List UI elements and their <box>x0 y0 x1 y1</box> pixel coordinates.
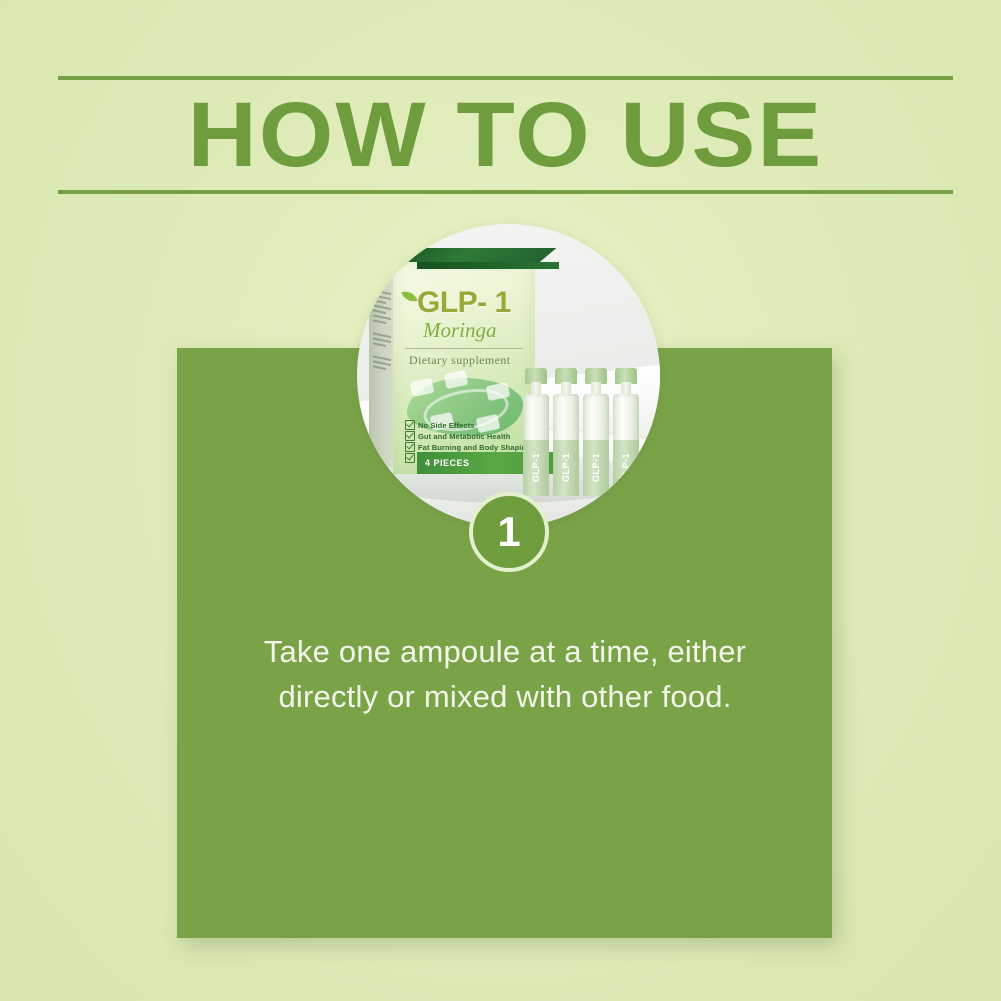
page-title: HOW TO USE <box>40 80 971 190</box>
ampoule: GLP-1 <box>583 368 609 496</box>
product-photo-inner: GLP- 1 Moringa Dietary supplement <box>357 224 660 527</box>
ampoule-body: GLP-1 <box>583 394 609 496</box>
leaf-icon <box>403 290 416 303</box>
side-text-line <box>373 319 386 324</box>
ampoule-label-text: GLP-1 <box>561 453 571 482</box>
ampoule: GLP-1 <box>523 368 549 496</box>
product-photo: GLP- 1 Moringa Dietary supplement <box>357 224 660 527</box>
box-top-strip <box>417 262 559 269</box>
ampoule-label: GLP-1 <box>553 440 579 496</box>
ampoule-label-text: GLP-1 <box>621 453 631 482</box>
check-icon <box>405 420 415 430</box>
box-side-text-lines <box>373 289 391 371</box>
ampoule-label-text: GLP-1 <box>531 453 541 482</box>
step-number-badge: 1 <box>469 492 549 572</box>
benefit-item: No Side Effects <box>405 420 531 430</box>
benefit-item: Gut and Metabolic Health <box>405 431 531 441</box>
ampoule: GLP-1 <box>553 368 579 496</box>
benefit-item: Fat Burning and Body Shaping <box>405 442 531 452</box>
ampoule-group: GLP-1 GLP-1 <box>523 348 641 496</box>
product-brand: GLP- 1 <box>417 288 511 318</box>
side-text-line <box>373 342 386 347</box>
ampoule-label: GLP-1 <box>523 440 549 496</box>
how-to-use-poster: HOW TO USE Take one ampoule at a time, e… <box>0 0 1001 1001</box>
ampoule-body: GLP-1 <box>523 394 549 496</box>
ampoule-label-text: GLP-1 <box>591 453 601 482</box>
product-category: Dietary supplement <box>409 353 511 368</box>
side-text-line <box>373 309 386 314</box>
ampoule-label: GLP-1 <box>613 440 639 496</box>
side-text-line <box>373 365 386 370</box>
benefit-label: No Side Effects <box>418 421 475 430</box>
box-front-face: GLP- 1 Moringa Dietary supplement <box>393 262 535 474</box>
brand-lockup: GLP- 1 <box>403 288 511 318</box>
pieces-count: 4 PIECES <box>425 458 470 468</box>
caption-line-2: directly or mixed with other food. <box>210 675 800 720</box>
step-caption: Take one ampoule at a time, either direc… <box>210 630 800 720</box>
ampoule-label: GLP-1 <box>583 440 609 496</box>
check-icon <box>405 453 415 463</box>
product-box: GLP- 1 Moringa Dietary supplement <box>369 262 535 474</box>
benefit-label: Fat Burning and Body Shaping <box>418 443 531 452</box>
box-divider <box>405 348 523 349</box>
check-icon <box>405 442 415 452</box>
check-icon <box>405 431 415 441</box>
box-side-face <box>369 266 395 468</box>
ampoule-body: GLP-1 <box>553 394 579 496</box>
title-rule-bottom <box>58 190 953 194</box>
ampoule-body: GLP-1 <box>613 394 639 496</box>
caption-line-1: Take one ampoule at a time, either <box>210 630 800 675</box>
ampoule: GLP-1 <box>613 368 639 496</box>
product-sub-brand: Moringa <box>423 320 497 341</box>
side-text-line <box>373 299 386 304</box>
benefit-label: Gut and Metabolic Health <box>418 432 510 441</box>
title-block: HOW TO USE <box>58 76 953 194</box>
